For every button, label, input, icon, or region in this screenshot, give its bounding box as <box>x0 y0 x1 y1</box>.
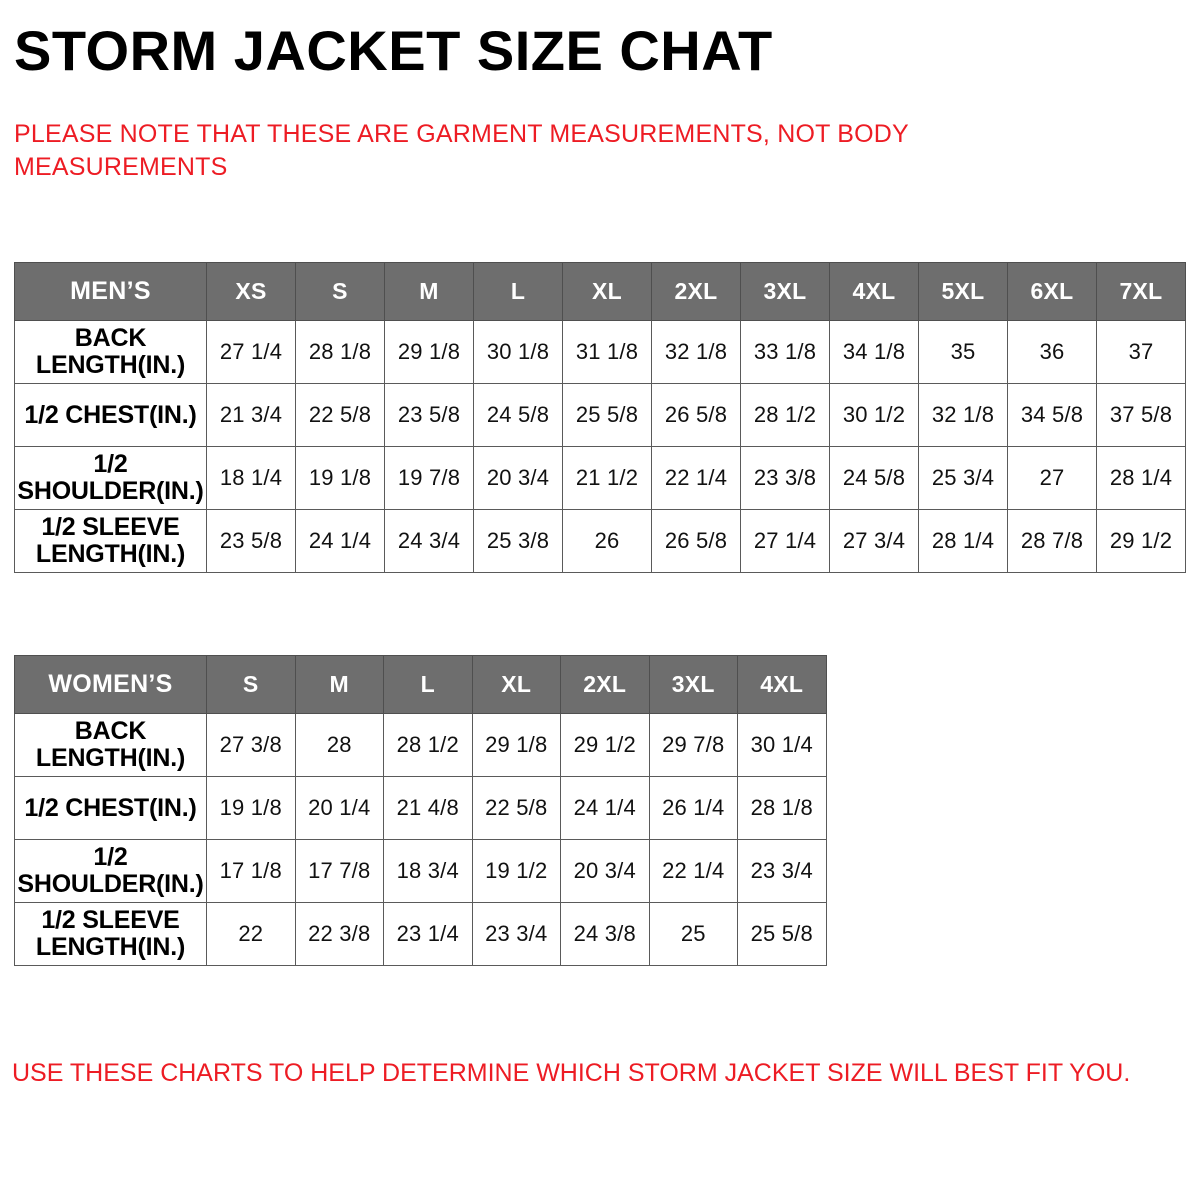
womens-back-length-2xl: 29 1/2 <box>561 714 650 777</box>
womens-half-sleeve-4xl: 25 5/8 <box>738 903 827 966</box>
womens-half-sleeve-3xl: 25 <box>649 903 738 966</box>
womens-row-label-back-length: BACKLENGTH(IN.) <box>15 714 207 777</box>
mens-header-6xl: 6XL <box>1008 263 1097 321</box>
mens-half-chest-7xl: 37 5/8 <box>1097 384 1186 447</box>
mens-half-chest-xs: 21 3/4 <box>207 384 296 447</box>
table-row: 1/2 SHOULDER(IN.) 17 1/8 17 7/8 18 3/4 1… <box>15 840 827 903</box>
label-line-1: 1/2 SLEEVE <box>41 513 179 541</box>
womens-half-chest-s: 19 1/8 <box>207 777 296 840</box>
mens-half-chest-5xl: 32 1/8 <box>919 384 1008 447</box>
mens-half-chest-s: 22 5/8 <box>296 384 385 447</box>
mens-row-label-half-chest: 1/2 CHEST(IN.) <box>15 384 207 447</box>
womens-half-shoulder-2xl: 20 3/4 <box>561 840 650 903</box>
womens-half-chest-xl: 22 5/8 <box>472 777 561 840</box>
mens-size-table: MEN’S XS S M L XL 2XL 3XL 4XL 5XL 6XL 7X… <box>14 262 1186 573</box>
womens-table-head: WOMEN’S S M L XL 2XL 3XL 4XL <box>15 656 827 714</box>
mens-half-sleeve-6xl: 28 7/8 <box>1008 510 1097 573</box>
mens-header-5xl: 5XL <box>919 263 1008 321</box>
mens-row-label-back-length: BACKLENGTH(IN.) <box>15 321 207 384</box>
mens-half-sleeve-m: 24 3/4 <box>385 510 474 573</box>
mens-half-chest-3xl: 28 1/2 <box>741 384 830 447</box>
womens-half-sleeve-xl: 23 3/4 <box>472 903 561 966</box>
mens-half-shoulder-s: 19 1/8 <box>296 447 385 510</box>
mens-half-chest-xl: 25 5/8 <box>563 384 652 447</box>
mens-half-shoulder-3xl: 23 3/8 <box>741 447 830 510</box>
footer-help-note: USE THESE CHARTS TO HELP DETERMINE WHICH… <box>12 1057 1182 1090</box>
mens-back-length-l: 30 1/8 <box>474 321 563 384</box>
mens-half-sleeve-xl: 26 <box>563 510 652 573</box>
mens-back-length-2xl: 32 1/8 <box>652 321 741 384</box>
mens-half-shoulder-m: 19 7/8 <box>385 447 474 510</box>
mens-half-shoulder-4xl: 24 5/8 <box>830 447 919 510</box>
womens-half-sleeve-s: 22 <box>207 903 296 966</box>
mens-half-sleeve-7xl: 29 1/2 <box>1097 510 1186 573</box>
womens-half-shoulder-m: 17 7/8 <box>295 840 384 903</box>
mens-header-4xl: 4XL <box>830 263 919 321</box>
mens-half-sleeve-s: 24 1/4 <box>296 510 385 573</box>
mens-back-length-7xl: 37 <box>1097 321 1186 384</box>
mens-half-sleeve-2xl: 26 5/8 <box>652 510 741 573</box>
womens-header-l: L <box>384 656 473 714</box>
mens-header-s: S <box>296 263 385 321</box>
page-title: STORM JACKET SIZE CHAT <box>14 22 773 81</box>
label-line-1: 1/2 SHOULDER(IN.) <box>17 450 203 505</box>
mens-header-l: L <box>474 263 563 321</box>
table-row: BACKLENGTH(IN.) 27 1/4 28 1/8 29 1/8 30 … <box>15 321 1186 384</box>
mens-row-label-half-sleeve-length: 1/2 SLEEVELENGTH(IN.) <box>15 510 207 573</box>
label-line-2: LENGTH(IN.) <box>36 744 185 772</box>
mens-header-7xl: 7XL <box>1097 263 1186 321</box>
mens-half-chest-6xl: 34 5/8 <box>1008 384 1097 447</box>
table-row: 1/2 CHEST(IN.) 21 3/4 22 5/8 23 5/8 24 5… <box>15 384 1186 447</box>
mens-half-sleeve-xs: 23 5/8 <box>207 510 296 573</box>
womens-half-shoulder-l: 18 3/4 <box>384 840 473 903</box>
womens-half-sleeve-l: 23 1/4 <box>384 903 473 966</box>
mens-half-sleeve-5xl: 28 1/4 <box>919 510 1008 573</box>
mens-half-sleeve-3xl: 27 1/4 <box>741 510 830 573</box>
womens-half-sleeve-2xl: 24 3/8 <box>561 903 650 966</box>
womens-size-table: WOMEN’S S M L XL 2XL 3XL 4XL BACKLENGTH(… <box>14 655 827 966</box>
mens-half-shoulder-6xl: 27 <box>1008 447 1097 510</box>
womens-half-sleeve-m: 22 3/8 <box>295 903 384 966</box>
mens-half-shoulder-l: 20 3/4 <box>474 447 563 510</box>
mens-header-m: M <box>385 263 474 321</box>
table-row: 1/2 CHEST(IN.) 19 1/8 20 1/4 21 4/8 22 5… <box>15 777 827 840</box>
womens-header-row: WOMEN’S S M L XL 2XL 3XL 4XL <box>15 656 827 714</box>
mens-half-chest-l: 24 5/8 <box>474 384 563 447</box>
womens-header-m: M <box>295 656 384 714</box>
mens-back-length-3xl: 33 1/8 <box>741 321 830 384</box>
womens-half-chest-4xl: 28 1/8 <box>738 777 827 840</box>
mens-back-length-s: 28 1/8 <box>296 321 385 384</box>
womens-back-length-xl: 29 1/8 <box>472 714 561 777</box>
mens-half-chest-2xl: 26 5/8 <box>652 384 741 447</box>
mens-half-shoulder-5xl: 25 3/4 <box>919 447 1008 510</box>
garment-measurement-note: PLEASE NOTE THAT THESE ARE GARMENT MEASU… <box>14 118 1014 184</box>
label-line-1: 1/2 SHOULDER(IN.) <box>17 843 203 898</box>
womens-row-label-half-sleeve-length: 1/2 SLEEVELENGTH(IN.) <box>15 903 207 966</box>
mens-header-row: MEN’S XS S M L XL 2XL 3XL 4XL 5XL 6XL 7X… <box>15 263 1186 321</box>
womens-half-shoulder-3xl: 22 1/4 <box>649 840 738 903</box>
label-line-1: 1/2 CHEST(IN.) <box>24 794 196 822</box>
womens-half-chest-2xl: 24 1/4 <box>561 777 650 840</box>
mens-back-length-5xl: 35 <box>919 321 1008 384</box>
mens-table-body: BACKLENGTH(IN.) 27 1/4 28 1/8 29 1/8 30 … <box>15 321 1186 573</box>
mens-header-xs: XS <box>207 263 296 321</box>
womens-header-2xl: 2XL <box>561 656 650 714</box>
size-chart-page: STORM JACKET SIZE CHAT PLEASE NOTE THAT … <box>0 0 1200 1200</box>
mens-back-length-4xl: 34 1/8 <box>830 321 919 384</box>
womens-row-label-half-shoulder: 1/2 SHOULDER(IN.) <box>15 840 207 903</box>
label-line-2: LENGTH(IN.) <box>36 351 185 379</box>
mens-half-sleeve-l: 25 3/8 <box>474 510 563 573</box>
mens-half-shoulder-xs: 18 1/4 <box>207 447 296 510</box>
mens-header-3xl: 3XL <box>741 263 830 321</box>
label-line-2: LENGTH(IN.) <box>36 540 185 568</box>
table-row: 1/2 SHOULDER(IN.) 18 1/4 19 1/8 19 7/8 2… <box>15 447 1186 510</box>
womens-back-length-l: 28 1/2 <box>384 714 473 777</box>
womens-header-corner: WOMEN’S <box>15 656 207 714</box>
label-line-2: LENGTH(IN.) <box>36 933 185 961</box>
label-line-1: 1/2 SLEEVE <box>41 906 179 934</box>
womens-table-body: BACKLENGTH(IN.) 27 3/8 28 28 1/2 29 1/8 … <box>15 714 827 966</box>
mens-back-length-xs: 27 1/4 <box>207 321 296 384</box>
mens-header-xl: XL <box>563 263 652 321</box>
womens-half-chest-m: 20 1/4 <box>295 777 384 840</box>
label-line-1: 1/2 CHEST(IN.) <box>24 401 196 429</box>
mens-table-head: MEN’S XS S M L XL 2XL 3XL 4XL 5XL 6XL 7X… <box>15 263 1186 321</box>
mens-back-length-m: 29 1/8 <box>385 321 474 384</box>
womens-half-chest-3xl: 26 1/4 <box>649 777 738 840</box>
womens-half-chest-l: 21 4/8 <box>384 777 473 840</box>
mens-header-corner: MEN’S <box>15 263 207 321</box>
mens-half-shoulder-2xl: 22 1/4 <box>652 447 741 510</box>
mens-header-2xl: 2XL <box>652 263 741 321</box>
mens-half-shoulder-xl: 21 1/2 <box>563 447 652 510</box>
mens-back-length-xl: 31 1/8 <box>563 321 652 384</box>
womens-back-length-3xl: 29 7/8 <box>649 714 738 777</box>
label-line-1: BACK <box>75 324 146 352</box>
mens-half-chest-4xl: 30 1/2 <box>830 384 919 447</box>
womens-half-shoulder-xl: 19 1/2 <box>472 840 561 903</box>
womens-header-xl: XL <box>472 656 561 714</box>
mens-half-sleeve-4xl: 27 3/4 <box>830 510 919 573</box>
mens-back-length-6xl: 36 <box>1008 321 1097 384</box>
womens-back-length-m: 28 <box>295 714 384 777</box>
mens-row-label-half-shoulder: 1/2 SHOULDER(IN.) <box>15 447 207 510</box>
mens-half-chest-m: 23 5/8 <box>385 384 474 447</box>
label-line-1: BACK <box>75 717 146 745</box>
womens-half-shoulder-s: 17 1/8 <box>207 840 296 903</box>
table-row: 1/2 SLEEVELENGTH(IN.) 22 22 3/8 23 1/4 2… <box>15 903 827 966</box>
womens-back-length-s: 27 3/8 <box>207 714 296 777</box>
womens-half-shoulder-4xl: 23 3/4 <box>738 840 827 903</box>
womens-row-label-half-chest: 1/2 CHEST(IN.) <box>15 777 207 840</box>
womens-header-s: S <box>207 656 296 714</box>
womens-header-3xl: 3XL <box>649 656 738 714</box>
mens-half-shoulder-7xl: 28 1/4 <box>1097 447 1186 510</box>
table-row: 1/2 SLEEVELENGTH(IN.) 23 5/8 24 1/4 24 3… <box>15 510 1186 573</box>
womens-back-length-4xl: 30 1/4 <box>738 714 827 777</box>
womens-header-4xl: 4XL <box>738 656 827 714</box>
table-row: BACKLENGTH(IN.) 27 3/8 28 28 1/2 29 1/8 … <box>15 714 827 777</box>
